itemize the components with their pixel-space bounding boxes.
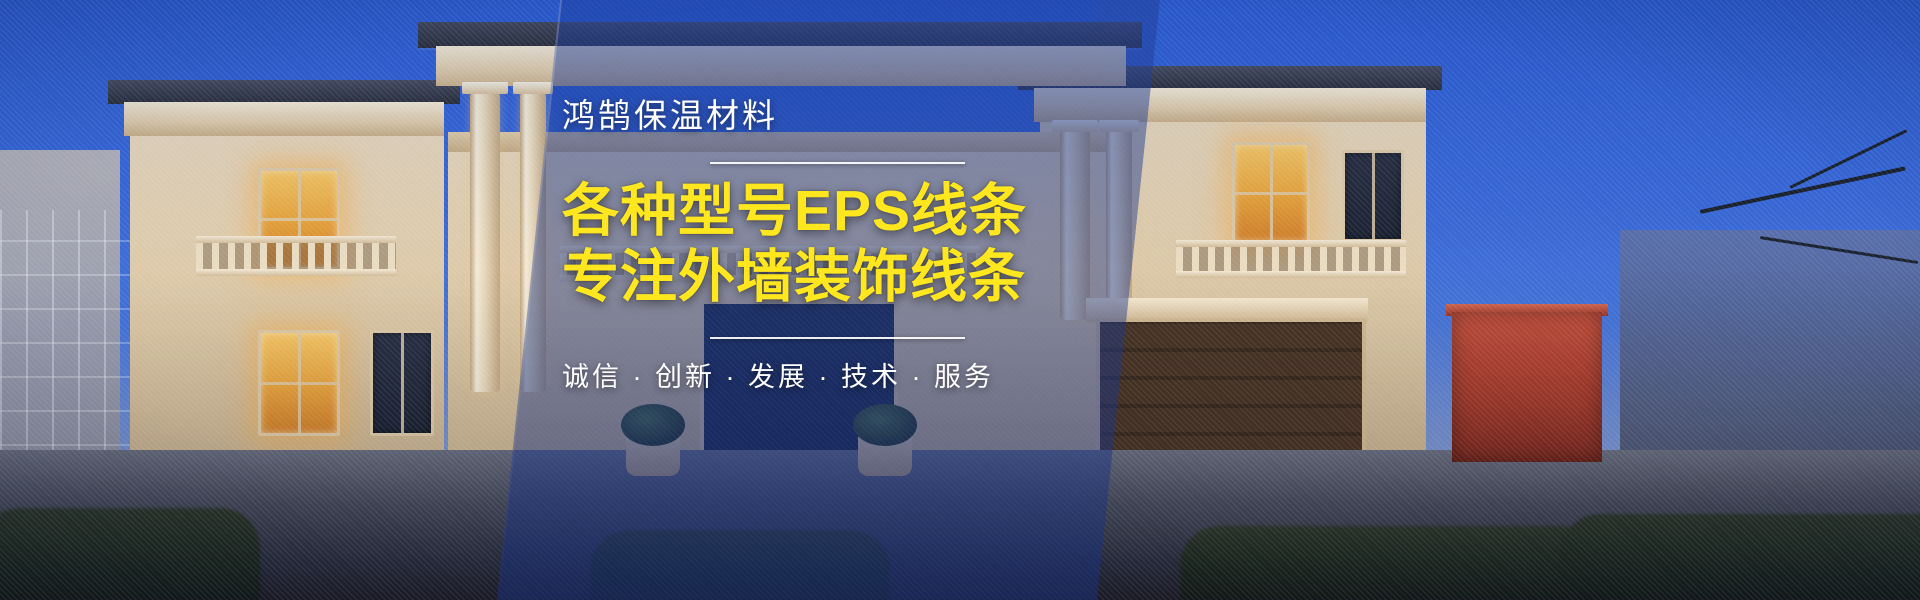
background-building-right: [1620, 230, 1920, 480]
red-container: [1452, 312, 1602, 462]
left-wing-roof: [108, 80, 460, 104]
left-wing-cornice: [124, 102, 444, 136]
balustrade: [1176, 240, 1406, 278]
window-lit: [258, 330, 340, 436]
window-lit: [1232, 142, 1310, 244]
column: [470, 92, 500, 392]
company-name: 鸿鹄保温材料: [562, 96, 992, 136]
hedge: [1560, 514, 1920, 600]
window: [370, 330, 434, 436]
balustrade: [196, 236, 396, 276]
tagline: 诚信 · 创新 · 发展 · 技术 · 服务: [562, 355, 992, 394]
window: [1342, 150, 1404, 242]
headline-line-2: 专注外墙装饰线条: [562, 244, 992, 311]
hedge: [1180, 526, 1600, 600]
headline-line-1: 各种型号EPS线条: [562, 178, 992, 245]
column-capital: [462, 82, 508, 94]
column-capital: [513, 82, 553, 94]
banner-hero: 鸿鹄保温材料 各种型号EPS线条 专注外墙装饰线条 诚信 · 创新 · 发展 ·…: [0, 0, 1920, 600]
divider-top: [710, 162, 965, 164]
divider-bottom: [710, 337, 965, 339]
banner-copy: 鸿鹄保温材料 各种型号EPS线条 专注外墙装饰线条 诚信 · 创新 · 发展 ·…: [562, 96, 992, 394]
scaffolding: [0, 210, 150, 480]
hedge: [0, 508, 260, 600]
